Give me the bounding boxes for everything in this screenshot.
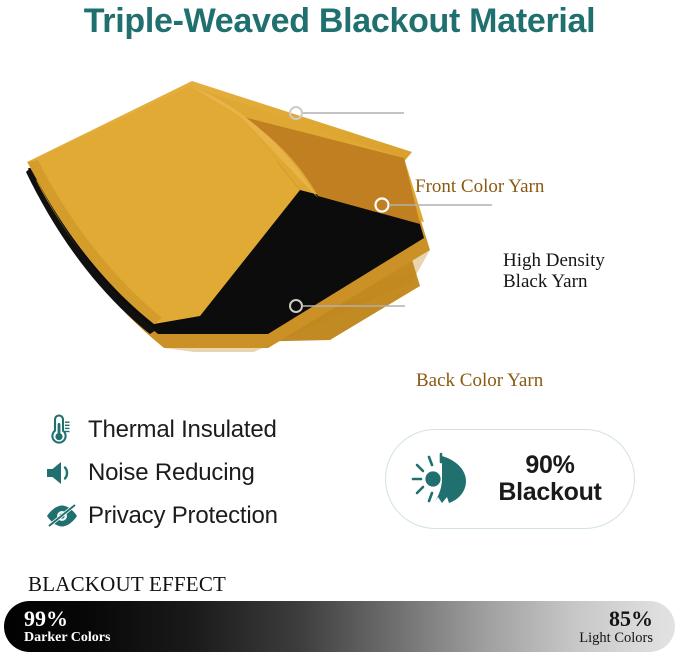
darker-colors-percent: 99% [24, 607, 68, 630]
feature-item-thermal-insulated: Thermal Insulated [44, 408, 364, 451]
speaker-sound-icon [44, 455, 88, 491]
light-colors-percent: 85% [609, 607, 653, 630]
feature-label-privacy-protection: Privacy Protection [88, 502, 278, 530]
callout-label-line1: High Density [503, 250, 605, 271]
callout-label-high-density-black-yarn: High Density Black Yarn [503, 250, 605, 292]
light-colors-caption: Light Colors [579, 630, 653, 646]
darker-colors-caption: Darker Colors [24, 630, 110, 646]
blackout-percent: 90% [478, 452, 622, 479]
blackout-effect-right-stat: 85% Light Colors [579, 601, 653, 652]
thermometer-icon [44, 412, 88, 448]
fabric-layers-diagram: Front Color Yarn High Density Black Yarn… [0, 72, 679, 352]
blackout-badge: 90% Blackout [385, 429, 635, 529]
feature-list: Thermal Insulated Noise Reducing Privacy… [44, 408, 364, 537]
eye-slash-icon [44, 498, 88, 534]
feature-label-noise-reducing: Noise Reducing [88, 459, 255, 487]
page-title: Triple-Weaved Blackout Material [0, 2, 679, 41]
feature-item-privacy-protection: Privacy Protection [44, 494, 364, 537]
blackout-effect-left-stat: 99% Darker Colors [24, 601, 110, 652]
callout-label-back-color-yarn: Back Color Yarn [416, 370, 543, 391]
sun-blocked-by-curtain-icon [404, 445, 478, 513]
feature-item-noise-reducing: Noise Reducing [44, 451, 364, 494]
blackout-effect-gradient-bar: 99% Darker Colors 85% Light Colors [4, 601, 675, 652]
callout-label-front-color-yarn: Front Color Yarn [415, 176, 544, 197]
blackout-badge-text: 90% Blackout [478, 452, 634, 506]
blackout-effect-title: BLACKOUT EFFECT [28, 572, 226, 597]
blackout-label: Blackout [478, 479, 622, 506]
feature-label-thermal-insulated: Thermal Insulated [88, 416, 277, 444]
callout-label-line2: Black Yarn [503, 271, 605, 292]
